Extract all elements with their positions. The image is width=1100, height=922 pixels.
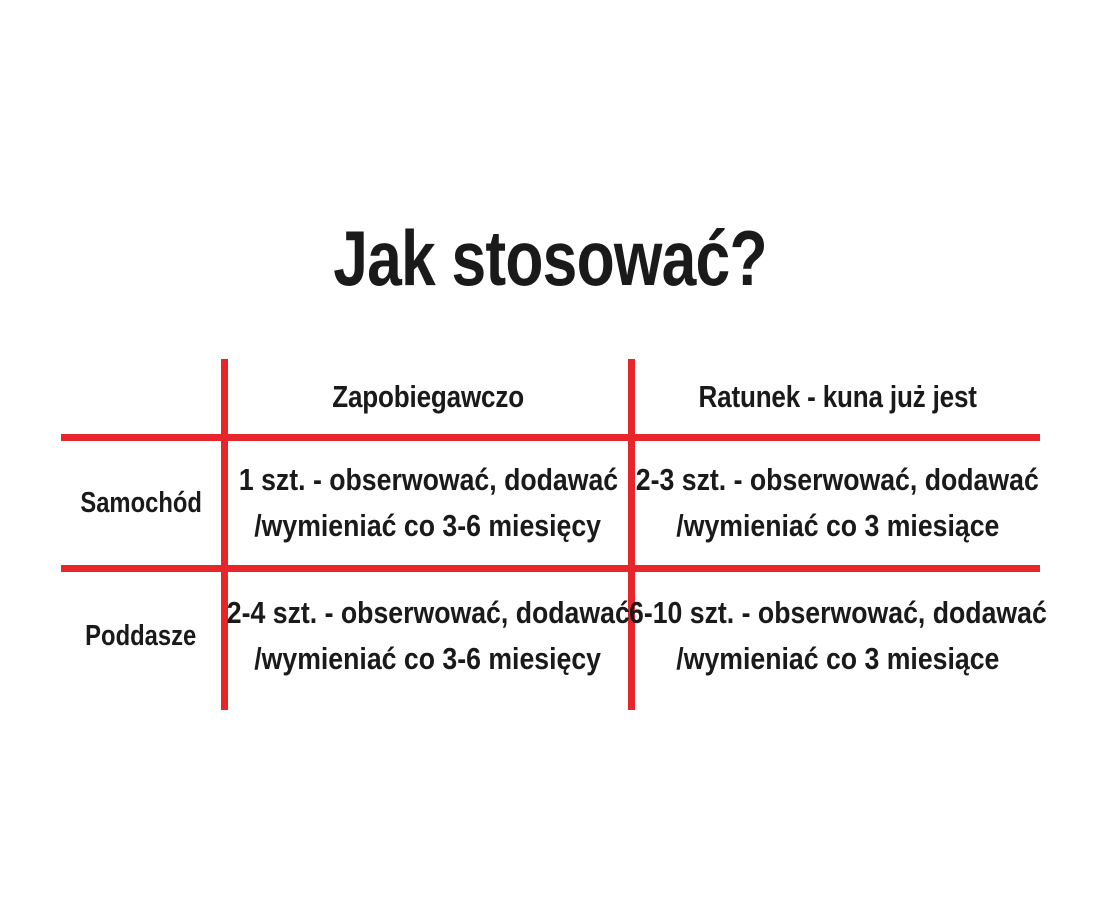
cell-line-2: /wymieniać co 3-6 miesięcy [255,636,602,682]
comparison-table: Zapobiegawczo Ratunek - kuna już jest Sa… [0,0,1100,922]
cell-line-2: /wymieniać co 3 miesiące [676,636,999,682]
row-header-label: Poddasze [85,619,196,653]
cell-line-1: 2-4 szt. - obserwować, dodawać [227,590,630,636]
cell-line-1: 6-10 szt. - obserwować, dodawać [629,590,1047,636]
table-cell-samochod-zapobiegawczo: 1 szt. - obserwować, dodawać /wymieniać … [228,441,628,565]
cell-line-2: /wymieniać co 3 miesiące [676,503,999,549]
cell-line-1: 2-3 szt. - obserwować, dodawać [636,457,1039,503]
table-cell-poddasze-zapobiegawczo: 2-4 szt. - obserwować, dodawać /wymienia… [228,572,628,700]
row-header-label: Samochód [80,486,202,520]
table-row-header-samochod: Samochód [61,441,221,565]
table-divider-vertical-right [628,359,635,710]
table-divider-vertical-left [221,359,228,710]
table-column-header-zapobiegawczo: Zapobiegawczo [228,360,628,434]
table-cell-samochod-ratunek: 2-3 szt. - obserwować, dodawać /wymienia… [635,441,1040,565]
table-cell-poddasze-ratunek: 6-10 szt. - obserwować, dodawać /wymieni… [635,572,1040,700]
column-header-label: Ratunek - kuna już jest [698,379,976,415]
table-divider-horizontal-top [61,434,1040,441]
table-row-header-poddasze: Poddasze [61,572,221,700]
table-divider-horizontal-middle [61,565,1040,572]
cell-line-1: 1 szt. - obserwować, dodawać [238,457,617,503]
column-header-label: Zapobiegawczo [332,379,524,415]
cell-line-2: /wymieniać co 3-6 miesięcy [255,503,602,549]
table-column-header-ratunek: Ratunek - kuna już jest [635,360,1040,434]
